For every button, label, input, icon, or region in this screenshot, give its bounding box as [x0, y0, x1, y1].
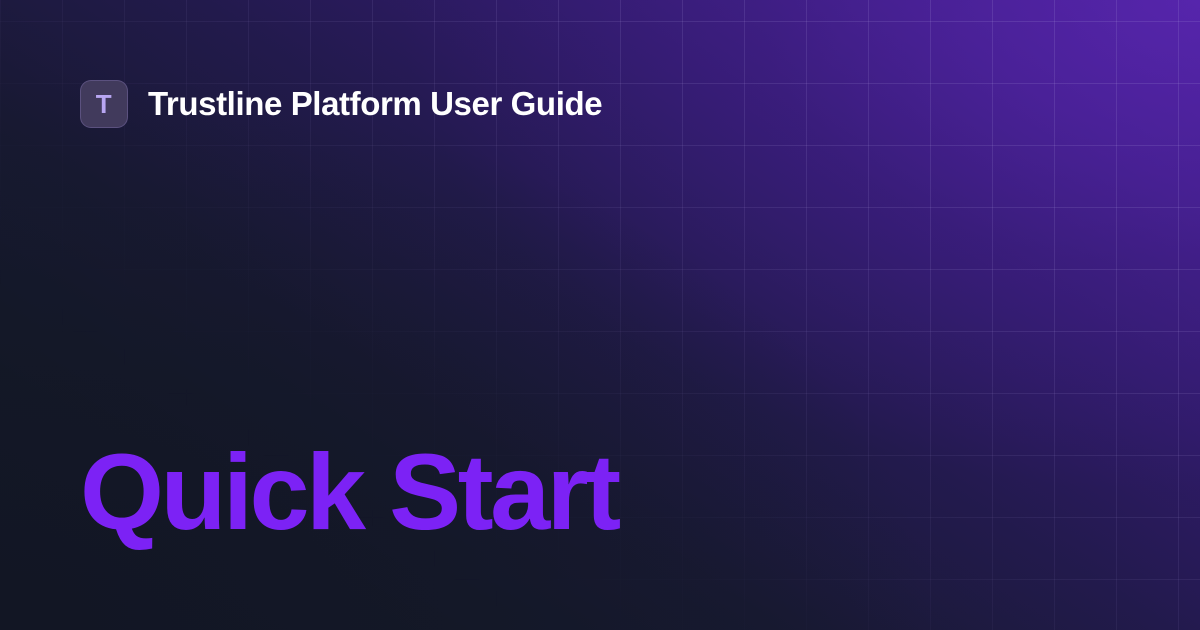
logo-letter: T	[96, 91, 112, 117]
og-card: T Trustline Platform User Guide Quick St…	[0, 0, 1200, 630]
brand-header: T Trustline Platform User Guide	[80, 80, 602, 128]
page-title: Quick Start	[80, 438, 618, 546]
trustline-logo-icon: T	[80, 80, 128, 128]
hero-section: Quick Start	[80, 438, 618, 546]
card-content: T Trustline Platform User Guide Quick St…	[0, 0, 1200, 630]
brand-title: Trustline Platform User Guide	[148, 85, 602, 123]
